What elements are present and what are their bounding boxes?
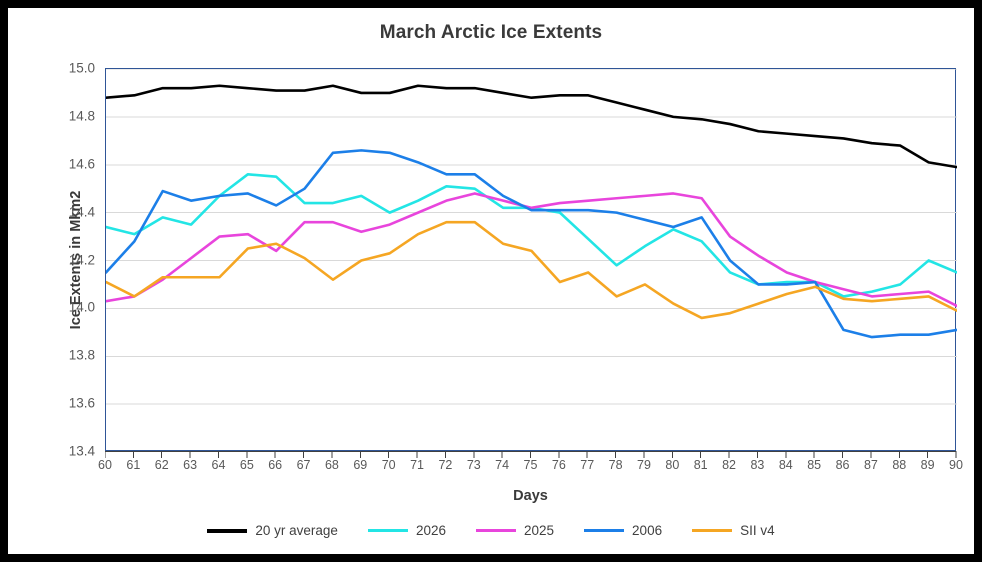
plot-svg [106, 69, 957, 452]
y-tick-label: 14.8 [35, 108, 95, 123]
legend-item[interactable]: 2006 [584, 523, 662, 538]
legend-item[interactable]: 20 yr average [207, 523, 338, 538]
legend-label: 20 yr average [255, 523, 338, 538]
legend-item[interactable]: 2025 [476, 523, 554, 538]
chart-title: March Arctic Ice Extents [8, 22, 974, 44]
legend-label: 2025 [524, 523, 554, 538]
y-tick-label: 14.4 [35, 204, 95, 219]
x-tick-marks [105, 451, 958, 460]
legend-label: SII v4 [740, 523, 775, 538]
y-tick-label: 13.8 [35, 348, 95, 363]
series-line-2006 [106, 150, 957, 337]
legend-line-swatch [368, 529, 408, 532]
x-axis-label: Days [105, 488, 956, 504]
y-tick-label: 14.0 [35, 300, 95, 315]
legend-line-swatch [584, 529, 624, 532]
legend-item[interactable]: 2026 [368, 523, 446, 538]
legend-item[interactable]: SII v4 [692, 523, 775, 538]
plot-area [105, 68, 956, 451]
x-tick-label: 90 [936, 458, 976, 472]
legend-label: 2006 [632, 523, 662, 538]
legend-line-swatch [476, 529, 516, 532]
legend-label: 2026 [416, 523, 446, 538]
y-tick-label: 15.0 [35, 61, 95, 76]
y-tick-label: 13.4 [35, 444, 95, 459]
legend-line-swatch [207, 529, 247, 533]
y-tick-label: 14.6 [35, 156, 95, 171]
legend-line-swatch [692, 529, 732, 532]
chart-card: March Arctic Ice Extents Ice Extents in … [8, 8, 974, 554]
chart-frame: March Arctic Ice Extents Ice Extents in … [0, 0, 982, 562]
y-tick-label: 14.2 [35, 252, 95, 267]
series-line-20-yr-average [106, 86, 957, 167]
chart-legend: 20 yr average202620252006SII v4 [8, 523, 974, 538]
y-tick-label: 13.6 [35, 396, 95, 411]
